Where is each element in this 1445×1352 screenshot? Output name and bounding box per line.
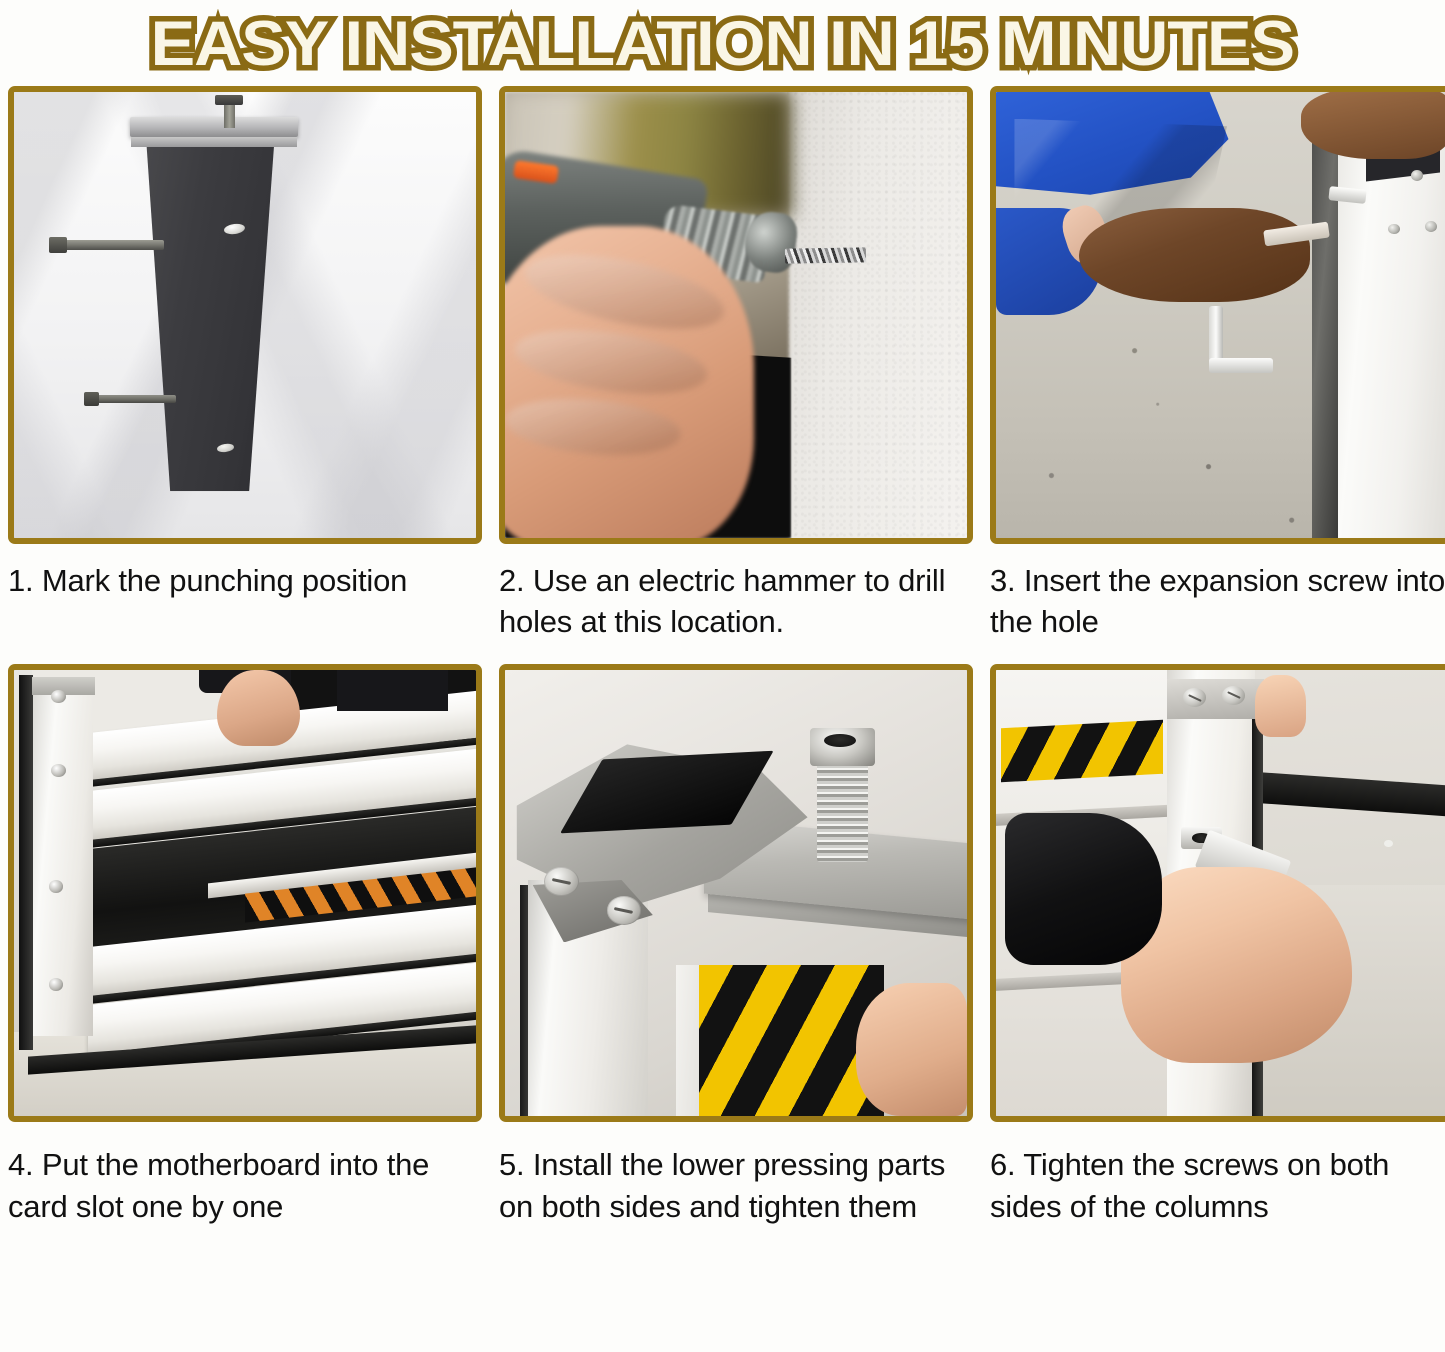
step-card-6: 6. Tighten the screws on both sides of t…	[990, 664, 1445, 1226]
step-photo-frame-1	[8, 86, 482, 544]
step-photo-frame-6	[990, 664, 1445, 1122]
step-photo-frame-4	[8, 664, 482, 1122]
step-caption-6: 6. Tighten the screws on both sides of t…	[990, 1122, 1445, 1226]
board-slot-photo	[14, 670, 476, 1116]
column-bracket-photo	[14, 92, 476, 538]
step-caption-3: 3. Insert the expansion screw into the h…	[990, 544, 1445, 642]
step-caption-4: 4. Put the motherboard into the card slo…	[8, 1122, 482, 1226]
step-photo-frame-2	[499, 86, 973, 544]
step-photo-frame-5	[499, 664, 973, 1122]
step-card-5: 5. Install the lower pressing parts on b…	[499, 664, 973, 1226]
step-caption-1: 1. Mark the punching position	[8, 544, 482, 601]
page-title: EASY INSTALLATION IN 15 MINUTES	[151, 13, 1294, 76]
step-card-1: 1. Mark the punching position	[8, 86, 482, 601]
steps-grid: 1. Mark the punching position	[0, 86, 1445, 1227]
step-caption-5: 5. Install the lower pressing parts on b…	[499, 1122, 973, 1226]
step-caption-2: 2. Use an electric hammer to drill holes…	[499, 544, 973, 642]
steps-row-top: 1. Mark the punching position	[8, 86, 1437, 642]
step-card-4: 4. Put the motherboard into the card slo…	[8, 664, 482, 1226]
hammer-drill-photo	[505, 92, 967, 538]
pressing-bracket-photo	[505, 670, 967, 1116]
header-banner: EASY INSTALLATION IN 15 MINUTES	[0, 0, 1445, 86]
step-card-3: 3. Insert the expansion screw into the h…	[990, 86, 1445, 642]
step-card-2: 2. Use an electric hammer to drill holes…	[499, 86, 973, 642]
expansion-screw-photo	[996, 92, 1445, 538]
tighten-screws-photo	[996, 670, 1445, 1116]
steps-row-bottom: 4. Put the motherboard into the card slo…	[8, 664, 1437, 1226]
step-photo-frame-3	[990, 86, 1445, 544]
